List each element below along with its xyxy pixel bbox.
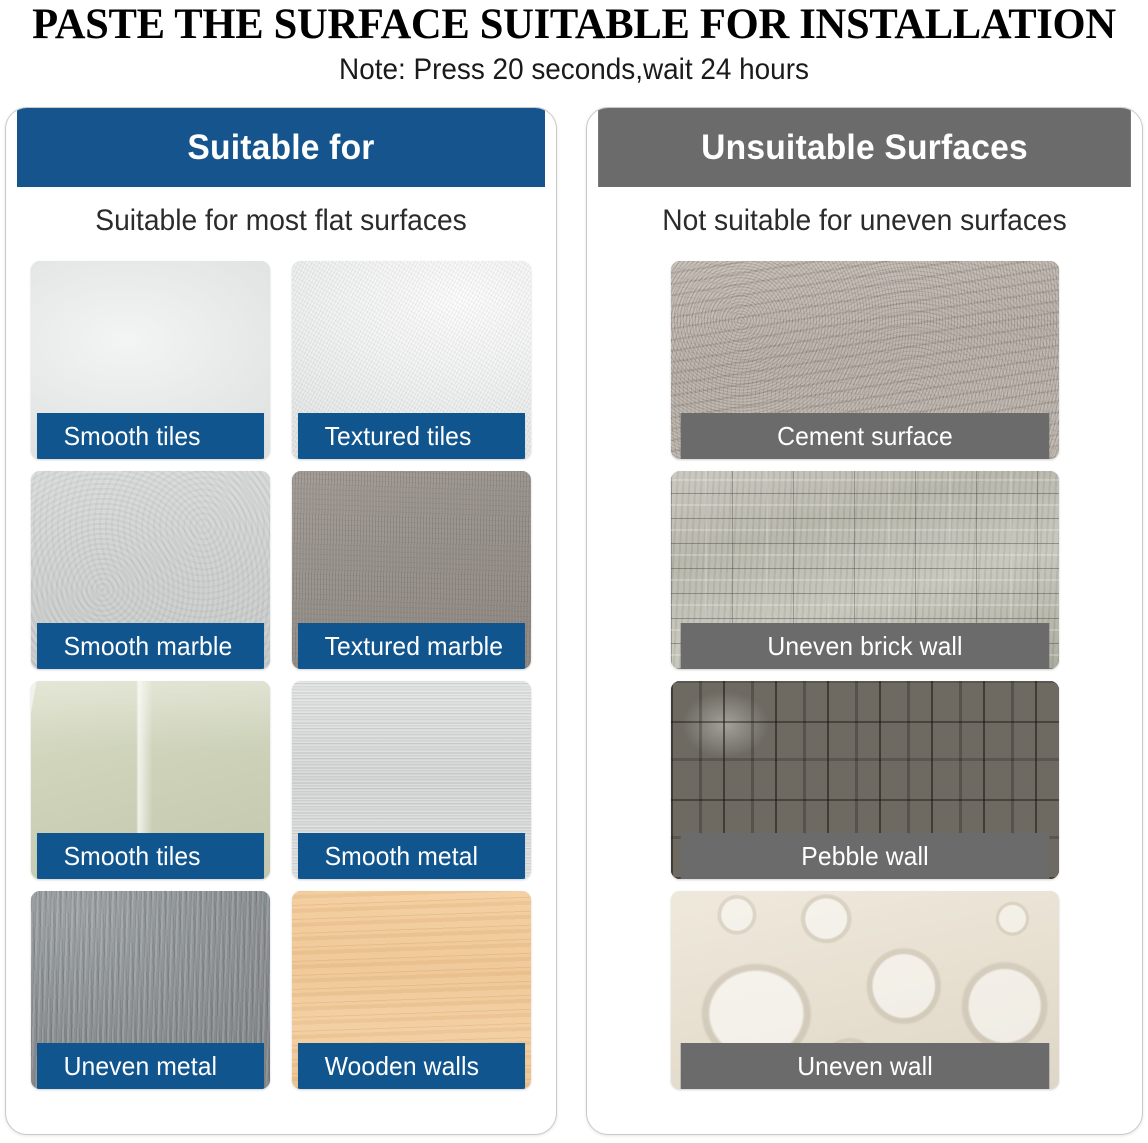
surface-tile-label: Smooth tiles (37, 413, 264, 459)
surface-tile-label: Smooth marble (37, 623, 264, 669)
surface-tile-label: Textured tiles (298, 413, 525, 459)
panel-unsuitable-header: Unsuitable Surfaces (598, 108, 1131, 187)
surface-tile-label: Uneven wall (680, 1043, 1049, 1089)
surface-tile: Smooth tiles (31, 261, 270, 459)
panel-unsuitable: Unsuitable Surfaces Not suitable for une… (586, 107, 1143, 1135)
surface-tile-label: Cement surface (680, 413, 1049, 459)
surface-tile-label: Uneven metal (37, 1043, 264, 1089)
page-title: PASTE THE SURFACE SUITABLE FOR INSTALLAT… (6, 2, 1143, 48)
unsuitable-tile-grid: Cement surfaceUneven brick wallPebble wa… (587, 261, 1142, 1089)
surface-tile: Textured marble (292, 471, 531, 669)
surface-tile-label: Textured marble (298, 623, 525, 669)
surface-tile-label: Smooth metal (298, 833, 525, 879)
infographic-page: PASTE THE SURFACE SUITABLE FOR INSTALLAT… (0, 0, 1148, 1143)
panel-suitable: Suitable for Suitable for most flat surf… (5, 107, 557, 1135)
surface-tile: Uneven brick wall (671, 471, 1059, 669)
page-note: Note: Press 20 seconds,wait 24 hours (40, 52, 1108, 88)
surface-tile-label: Uneven brick wall (680, 623, 1049, 669)
surface-tile: Uneven metal (31, 891, 270, 1089)
surface-tile-label: Pebble wall (680, 833, 1049, 879)
suitable-tile-grid: Smooth tilesTextured tilesSmooth marbleT… (6, 261, 556, 1089)
surface-tile: Pebble wall (671, 681, 1059, 879)
surface-tile: Textured tiles (292, 261, 531, 459)
panel-suitable-header: Suitable for (17, 108, 545, 187)
surface-tile-label: Smooth tiles (37, 833, 264, 879)
panel-unsuitable-subtitle: Not suitable for uneven surfaces (604, 203, 1126, 239)
surface-tile: Wooden walls (292, 891, 531, 1089)
surface-tile: Cement surface (671, 261, 1059, 459)
surface-tile: Uneven wall (671, 891, 1059, 1089)
surface-tile: Smooth tiles (31, 681, 270, 879)
surface-tile: Smooth metal (292, 681, 531, 879)
surface-tile-label: Wooden walls (298, 1043, 525, 1089)
panel-suitable-subtitle: Suitable for most flat surfaces (23, 203, 540, 239)
surface-tile: Smooth marble (31, 471, 270, 669)
